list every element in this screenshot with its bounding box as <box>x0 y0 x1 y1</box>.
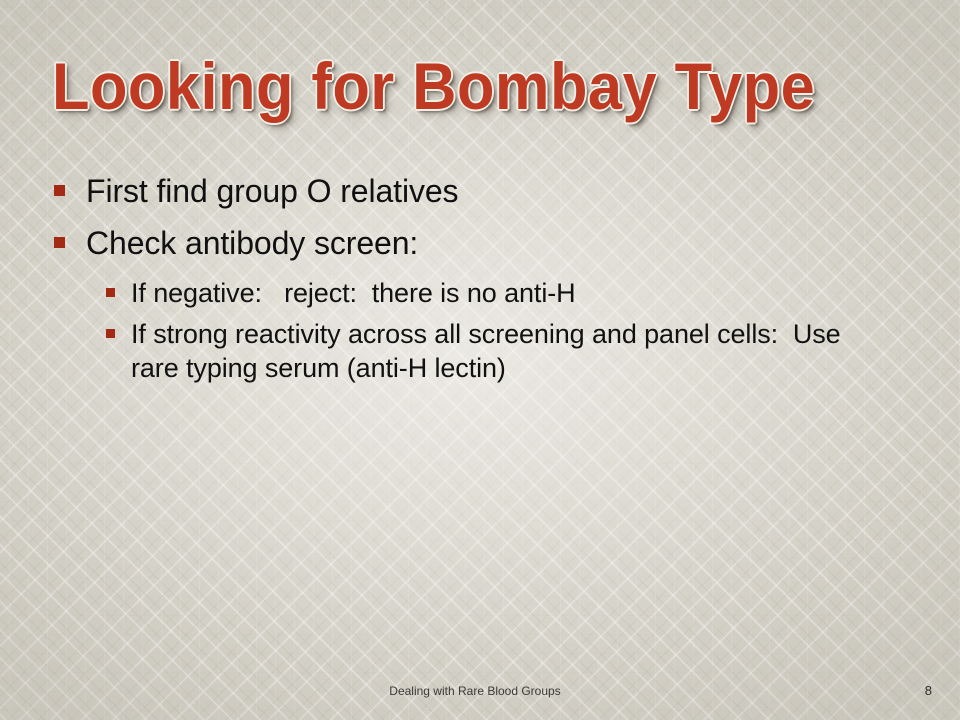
title-block: Looking for Bombay Type <box>52 46 908 138</box>
square-bullet-icon <box>54 237 65 248</box>
bullet-item-level1: Check antibody screen: <box>54 224 914 262</box>
bullet-label: First find group O relatives <box>86 172 458 210</box>
bullet-item-level2: If strong reactivity across all screenin… <box>54 317 914 385</box>
bullet-label: Check antibody screen: <box>86 224 418 262</box>
sub-bullet-list: If negative: reject: there is no anti-H … <box>54 276 914 385</box>
slide-footer: Dealing with Rare Blood Groups 8 <box>0 682 960 700</box>
presentation-slide: Looking for Bombay Type First find group… <box>0 0 960 720</box>
square-sub-bullet-icon <box>106 329 115 338</box>
sub-bullet-label: If negative: reject: there is no anti-H <box>131 276 576 310</box>
footer-title: Dealing with Rare Blood Groups <box>0 682 960 700</box>
bullet-item-level2: If negative: reject: there is no anti-H <box>54 276 914 310</box>
body-content: First find group O relatives Check antib… <box>54 172 914 392</box>
sub-bullet-label: If strong reactivity across all screenin… <box>131 317 843 385</box>
square-sub-bullet-icon <box>106 288 115 297</box>
slide-title: Looking for Bombay Type <box>52 46 848 126</box>
page-number: 8 <box>925 682 932 700</box>
square-bullet-icon <box>54 185 65 196</box>
bullet-item-level1: First find group O relatives <box>54 172 914 210</box>
